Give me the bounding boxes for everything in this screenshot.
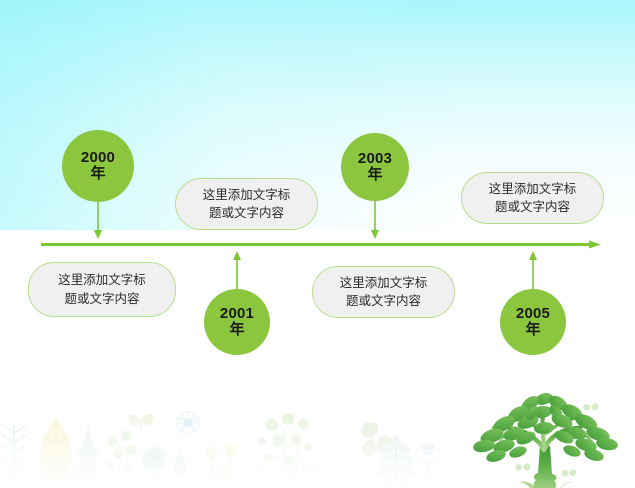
- node-unit-label: 年: [525, 322, 540, 338]
- node-year-label: 2001: [220, 306, 254, 322]
- callout-box-3[interactable]: 这里添加文字标 题或文字内容: [312, 266, 455, 318]
- node-year-label: 2003: [358, 151, 392, 167]
- timeline-axis: [41, 240, 601, 252]
- callout-line-1: 这里添加文字标: [58, 271, 146, 289]
- slide-canvas: 2000 年 2001 年 2003 年 2005 年 这里添加文字标 题或文字…: [0, 0, 635, 488]
- callout-box-2[interactable]: 这里添加文字标 题或文字内容: [175, 178, 318, 230]
- callout-box-1[interactable]: 这里添加文字标 题或文字内容: [28, 262, 176, 317]
- timeline-node-2000[interactable]: 2000 年: [62, 130, 134, 202]
- connector-2005: [529, 251, 537, 289]
- node-unit-label: 年: [367, 167, 382, 183]
- callout-line-2: 题或文字内容: [203, 204, 291, 222]
- timeline-node-2005[interactable]: 2005 年: [500, 289, 566, 355]
- node-unit-label: 年: [90, 166, 105, 182]
- timeline-node-2001[interactable]: 2001 年: [204, 289, 270, 355]
- timeline-arrowhead: [589, 241, 601, 249]
- callout-line-2: 题或文字内容: [58, 290, 146, 308]
- node-year-label: 2005: [516, 306, 550, 322]
- callout-line-2: 题或文字内容: [340, 292, 428, 310]
- callout-line-1: 这里添加文字标: [489, 180, 577, 198]
- callout-line-1: 这里添加文字标: [340, 274, 428, 292]
- callout-box-4[interactable]: 这里添加文字标 题或文字内容: [461, 172, 604, 224]
- background-bottom-fade: [0, 368, 635, 488]
- callout-line-2: 题或文字内容: [489, 198, 577, 216]
- timeline-node-2003[interactable]: 2003 年: [341, 133, 409, 201]
- node-year-label: 2000: [81, 150, 115, 166]
- node-unit-label: 年: [229, 322, 244, 338]
- callout-line-1: 这里添加文字标: [203, 186, 291, 204]
- connector-2001: [233, 251, 241, 289]
